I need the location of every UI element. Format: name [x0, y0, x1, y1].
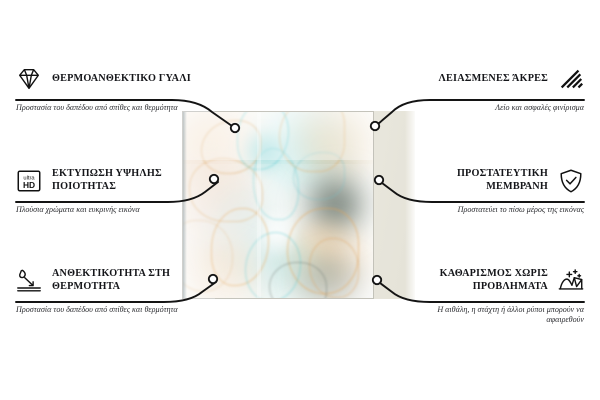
diamond-icon — [14, 65, 44, 93]
feature-title: ΚΑΘΑΡΙΣΜΟΣ ΧΩΡΙΣ ΠΡΟΒΛΗΜΑΤΑ — [400, 268, 548, 293]
product-image — [183, 112, 415, 298]
feature-header: ΛΕΙΑΣΜΕΝΕΣ ΆΚΡΕΣ — [400, 62, 586, 96]
feature-description: Προστασία του δαπέδου από σπίθες και θερ… — [14, 103, 200, 113]
glass-panel-artwork — [183, 112, 373, 298]
shield-check-icon — [556, 167, 586, 195]
feature-description: Προστασία του δαπέδου από σπίθες και θερ… — [14, 305, 200, 315]
feature-description: Πλούσια χρώματα και ευκρινής εικόνα — [14, 205, 200, 215]
feature-title: ΘΕΡΜΟΑΝΘΕΚΤΙΚΟ ΓΥΑΛΙ — [52, 73, 191, 86]
infographic-canvas: ΘΕΡΜΟΑΝΘΕΚΤΙΚΟ ΓΥΑΛΙ Προστασία του δαπέδ… — [0, 0, 600, 400]
feature-easy-cleaning: ΚΑΘΑΡΙΣΜΟΣ ΧΩΡΙΣ ΠΡΟΒΛΗΜΑΤΑ Η αιθάλη, η … — [400, 264, 586, 326]
feature-heat-resistant-glass: ΘΕΡΜΟΑΝΘΕΚΤΙΚΟ ΓΥΑΛΙ Προστασία του δαπέδ… — [14, 62, 200, 113]
feature-header: ΘΕΡΜΟΑΝΘΕΚΤΙΚΟ ΓΥΑΛΙ — [14, 62, 200, 96]
feature-title: ΠΡΟΣΤΑΤΕΥΤΙΚΗ ΜΕΜΒΡΑΝΗ — [400, 168, 548, 193]
feature-title: ΛΕΙΑΣΜΕΝΕΣ ΆΚΡΕΣ — [439, 73, 548, 86]
feature-protective-membrane: ΠΡΟΣΤΑΤΕΥΤΙΚΗ ΜΕΜΒΡΑΝΗ Προστατεύει το πί… — [400, 164, 586, 215]
feature-header: ultra HD ΕΚΤΥΠΩΣΗ ΥΨΗΛΗΣ ΠΟΙΟΤΗΤΑΣ — [14, 164, 200, 198]
feature-heat-durability: ΑΝΘΕΚΤΙΚΟΤΗΤΑ ΣΤΗ ΘΕΡΜΟΤΗΤΑ Προστασία το… — [14, 264, 200, 315]
feature-description: Προστατεύει το πίσω μέρος της εικόνας — [400, 205, 586, 215]
heat-resistance-icon — [14, 267, 44, 295]
feature-title: ΑΝΘΕΚΤΙΚΟΤΗΤΑ ΣΤΗ ΘΕΡΜΟΤΗΤΑ — [52, 268, 200, 293]
feature-header: ΚΑΘΑΡΙΣΜΟΣ ΧΩΡΙΣ ΠΡΟΒΛΗΜΑΤΑ — [400, 264, 586, 298]
feature-title: ΕΚΤΥΠΩΣΗ ΥΨΗΛΗΣ ΠΟΙΟΤΗΤΑΣ — [52, 168, 200, 193]
feature-description: Η αιθάλη, η στάχτη ή άλλοι ρύποι μπορούν… — [400, 305, 586, 326]
feature-header: ΑΝΘΕΚΤΙΚΟΤΗΤΑ ΣΤΗ ΘΕΡΜΟΤΗΤΑ — [14, 264, 200, 298]
easy-cleaning-icon — [556, 267, 586, 295]
feature-description: Λείο και ασφαλές φινίρισμα — [400, 103, 586, 113]
feature-high-quality-print: ultra HD ΕΚΤΥΠΩΣΗ ΥΨΗΛΗΣ ΠΟΙΟΤΗΤΑΣ Πλούσ… — [14, 164, 200, 215]
ultra-hd-icon: ultra HD — [14, 167, 44, 195]
smooth-edges-icon — [556, 65, 586, 93]
svg-text:HD: HD — [23, 180, 35, 190]
feature-smooth-edges: ΛΕΙΑΣΜΕΝΕΣ ΆΚΡΕΣ Λείο και ασφαλές φινίρι… — [400, 62, 586, 113]
feature-header: ΠΡΟΣΤΑΤΕΥΤΙΚΗ ΜΕΜΒΡΑΝΗ — [400, 164, 586, 198]
